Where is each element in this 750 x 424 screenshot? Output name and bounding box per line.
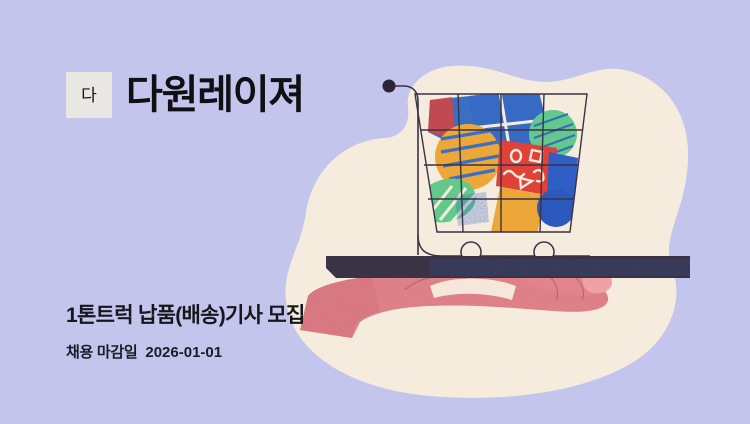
item-blue-circle [537, 189, 575, 227]
company-logo-box: 다 [66, 72, 112, 118]
application-deadline: 채용 마감일2026-01-01 [66, 344, 222, 363]
job-posting-banner: 다 다원레이져 1톤트럭 납품(배송)기사 모집 채용 마감일2026-01-0… [0, 0, 750, 424]
company-name: 다원레이져 [126, 75, 304, 115]
company-logo-initial: 다 [81, 87, 97, 104]
company-header: 다 다원레이져 [66, 72, 304, 118]
deadline-date: 2026-01-01 [145, 344, 222, 361]
job-title: 1톤트럭 납품(배송)기사 모집 [66, 303, 305, 329]
cart-base-bar [326, 256, 690, 278]
cart-handle-knob [383, 80, 396, 93]
item-blue-grain-patch [455, 192, 489, 226]
deadline-label: 채용 마감일 [66, 344, 137, 361]
